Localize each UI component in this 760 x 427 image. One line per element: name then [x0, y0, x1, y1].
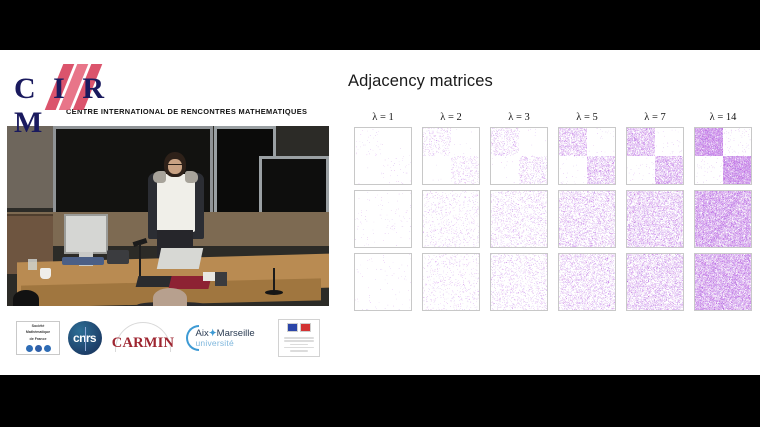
slide-title: Adjacency matrices	[348, 72, 493, 91]
carmin-label: CARMIN	[112, 335, 174, 355]
video-cup	[40, 268, 51, 279]
amu-arc-icon	[186, 325, 199, 351]
matrix-cell	[626, 190, 684, 248]
adjacency-matrix-lambda-5-row-1	[558, 127, 616, 185]
matrix-cell	[354, 253, 412, 311]
left-panel: C I R M CENTRE INTERNATIONAL DE RENCONTR…	[0, 50, 336, 375]
matrix-cell	[354, 190, 412, 248]
amu-line-2: université	[196, 339, 271, 348]
video-speaker-collar	[153, 171, 166, 183]
adjacency-matrix-lambda-2-row-3	[422, 253, 480, 311]
lambda-label-2: λ = 2	[422, 112, 480, 123]
matrix-cell	[422, 127, 480, 185]
slide-panel: Adjacency matrices λ = 1λ = 2λ = 3λ = 5λ…	[336, 50, 760, 375]
matrix-rows	[354, 127, 752, 311]
video-audience-head	[13, 290, 39, 306]
adjacency-matrix-lambda-2-row-2	[422, 190, 480, 248]
matrix-cell	[694, 127, 752, 185]
smf-line-1: Société	[32, 324, 45, 329]
adjacency-matrix-lambda-7-row-2	[626, 190, 684, 248]
logo-gouvernement-francais[interactable]	[278, 319, 320, 357]
screen: C I R M CENTRE INTERNATIONAL DE RENCONTR…	[0, 0, 760, 427]
video-speaker-collar	[185, 171, 198, 183]
adjacency-matrix-lambda-3-row-2	[490, 190, 548, 248]
smf-line-2: Mathématique	[26, 330, 50, 335]
brand-header: C I R M CENTRE INTERNATIONAL DE RENCONTR…	[0, 50, 336, 126]
adjacency-matrix-lambda-3-row-3	[490, 253, 548, 311]
amu-separator-icon: ✦	[209, 328, 217, 339]
logo-smf[interactable]: Société Mathématique de France	[16, 321, 60, 355]
lambda-label-3: λ = 3	[490, 112, 548, 123]
matrix-cell	[354, 127, 412, 185]
logo-aix-marseille-universite[interactable]: Aix✦Marseille université	[185, 322, 271, 354]
video-laptop	[157, 248, 203, 269]
lecture-video[interactable]	[7, 126, 329, 306]
video-desk-object	[62, 257, 104, 265]
lambda-labels-row: λ = 1λ = 2λ = 3λ = 5λ = 7λ = 14	[354, 112, 752, 123]
french-flag-icon	[287, 323, 311, 332]
video-pen-holder	[215, 272, 227, 286]
matrix-cell	[422, 190, 480, 248]
matrix-row-row-uniform-b	[354, 253, 752, 311]
matrix-cell	[558, 190, 616, 248]
matrix-cell	[626, 127, 684, 185]
lambda-label-14: λ = 14	[694, 112, 752, 123]
cirm-acronym: C I R M	[14, 72, 124, 140]
video-microphone-base	[265, 290, 283, 295]
video-monitor	[64, 214, 108, 254]
lambda-label-1: λ = 1	[354, 112, 412, 123]
lambda-label-5: λ = 5	[558, 112, 616, 123]
cirm-logo: C I R M	[14, 62, 124, 110]
matrix-cell	[694, 253, 752, 311]
adjacency-matrix-lambda-1-row-1	[354, 127, 412, 185]
adjacency-matrix-lambda-7-row-3	[626, 253, 684, 311]
logo-cnrs[interactable]: cnrs	[68, 321, 102, 355]
adjacency-matrix-lambda-3-row-1	[490, 127, 548, 185]
adjacency-matrix-lambda-1-row-2	[354, 190, 412, 248]
sponsor-bar: Société Mathématique de France cnrs CARM…	[7, 312, 329, 364]
video-glass	[28, 259, 37, 270]
adjacency-matrix-lambda-14-row-3	[694, 253, 752, 311]
adjacency-matrix-lambda-2-row-1	[422, 127, 480, 185]
matrix-cell	[490, 253, 548, 311]
adjacency-matrix-lambda-14-row-2	[694, 190, 752, 248]
video-microphone-stand	[139, 244, 141, 278]
matrix-cell	[694, 190, 752, 248]
video-desk-object	[136, 276, 173, 287]
adjacency-matrix-grid: λ = 1λ = 2λ = 3λ = 5λ = 7λ = 14	[354, 112, 752, 311]
smf-line-3: de France	[30, 337, 47, 342]
adjacency-matrix-lambda-14-row-1	[694, 127, 752, 185]
adjacency-matrix-lambda-1-row-3	[354, 253, 412, 311]
adjacency-matrix-lambda-7-row-1	[626, 127, 684, 185]
matrix-cell	[626, 253, 684, 311]
matrix-cell	[558, 253, 616, 311]
amu-marseille: Marseille	[217, 328, 255, 339]
matrix-row-row-blocks	[354, 127, 752, 185]
matrix-cell	[422, 253, 480, 311]
smf-dots-icon	[26, 345, 51, 352]
video-audience-head	[153, 288, 187, 306]
matrix-cell	[490, 127, 548, 185]
video-desk-object	[107, 250, 129, 264]
content-band: C I R M CENTRE INTERNATIONAL DE RENCONTR…	[0, 50, 760, 375]
matrix-cell	[490, 190, 548, 248]
video-speaker-glasses	[168, 164, 182, 167]
matrix-cell	[558, 127, 616, 185]
adjacency-matrix-lambda-5-row-3	[558, 253, 616, 311]
cnrs-stroke-icon	[85, 327, 87, 351]
lambda-label-7: λ = 7	[626, 112, 684, 123]
adjacency-matrix-lambda-5-row-2	[558, 190, 616, 248]
gouv-text-placeholder	[284, 337, 314, 353]
video-microphone-stand	[273, 268, 275, 292]
matrix-row-row-uniform-a	[354, 190, 752, 248]
logo-carmin[interactable]: CARMIN	[109, 321, 177, 355]
